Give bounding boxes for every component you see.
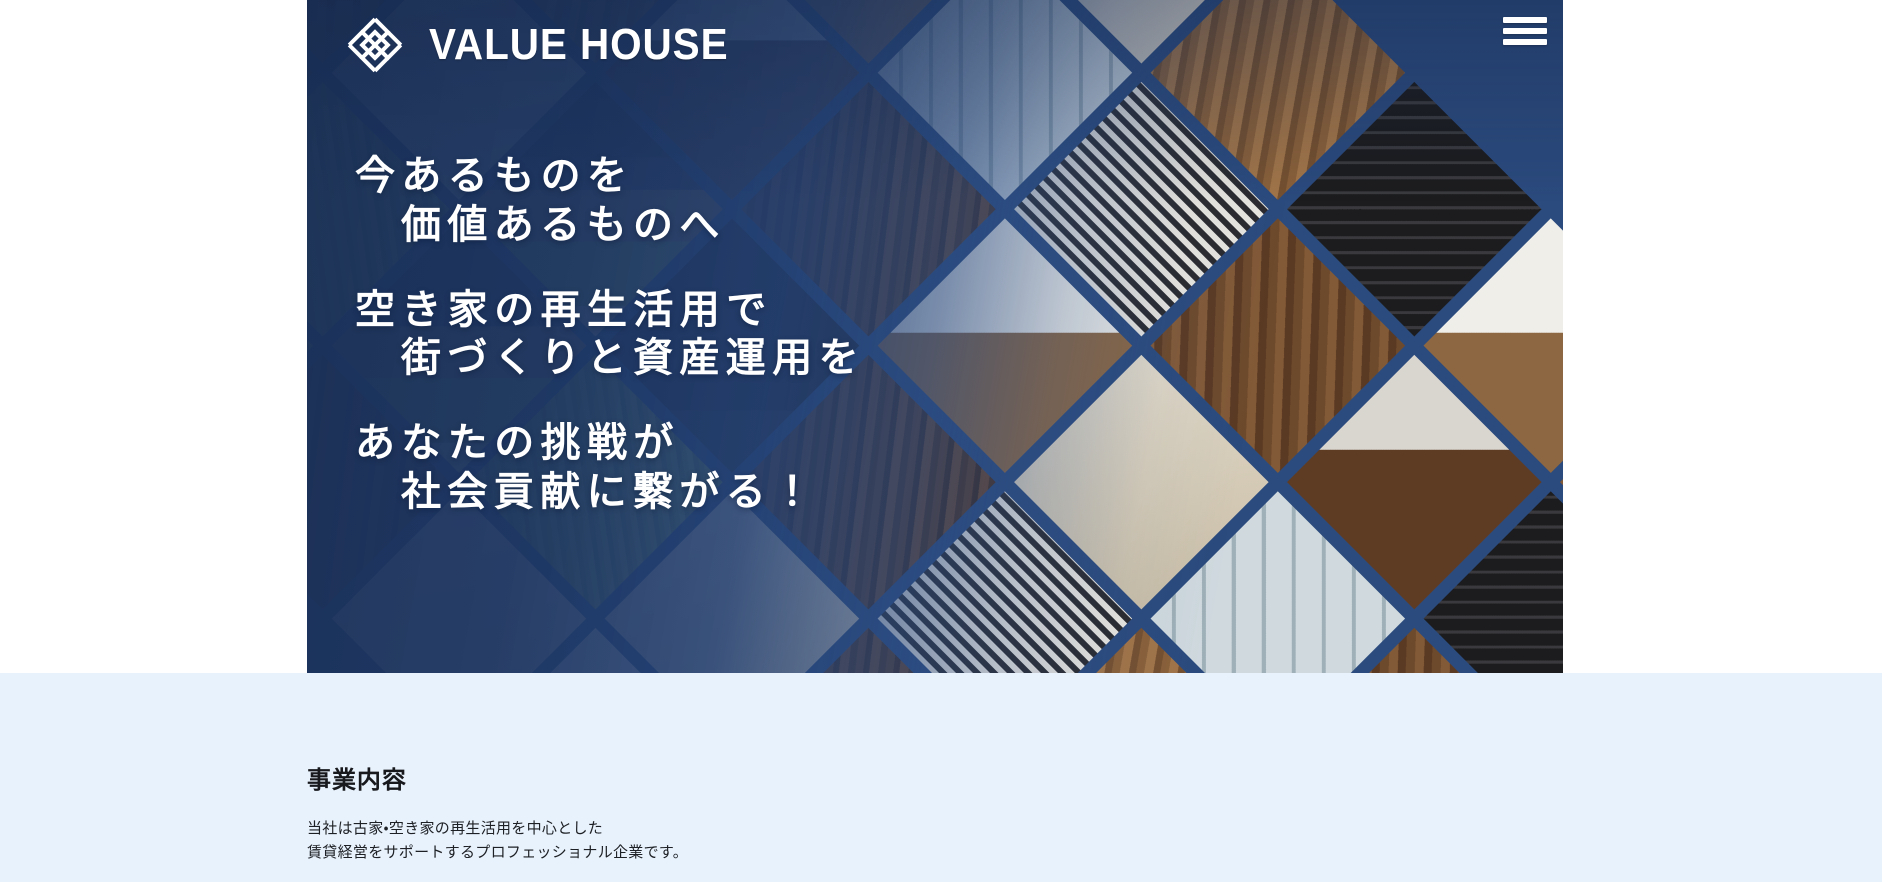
section-title: 事業内容: [307, 760, 1563, 795]
hamburger-bar-2: [1503, 28, 1547, 34]
brand-logo[interactable]: VALUE HOUSE: [337, 7, 755, 83]
hamburger-menu-icon[interactable]: [1501, 14, 1549, 48]
page-root: VALUE HOUSE 今あるものを 価値あるものへ 空き家の再生活用で 街づく…: [0, 0, 1882, 882]
hamburger-bar-1: [1503, 17, 1547, 23]
sayagata-diamond-logo-icon: [337, 7, 413, 83]
hero-top-shade-overlay: [307, 0, 1563, 673]
section-body-line-1: 当社は古家・空き家の再生活用を中心とした: [307, 817, 1563, 841]
business-overview-section: 事業内容 当社は古家・空き家の再生活用を中心とした 賃貸経営をサポートするプロフ…: [0, 673, 1882, 882]
hamburger-bar-3: [1503, 39, 1547, 45]
brand-wordmark: VALUE HOUSE: [429, 23, 729, 67]
section-body-line-2: 賃貸経営をサポートするプロフェッショナル企業です。: [307, 841, 1563, 865]
business-overview-inner: 事業内容 当社は古家・空き家の再生活用を中心とした 賃貸経営をサポートするプロフ…: [307, 673, 1563, 864]
section-body: 当社は古家・空き家の再生活用を中心とした 賃貸経営をサポートするプロフェッショナ…: [307, 817, 1563, 864]
hero-banner: VALUE HOUSE 今あるものを 価値あるものへ 空き家の再生活用で 街づく…: [307, 0, 1563, 673]
